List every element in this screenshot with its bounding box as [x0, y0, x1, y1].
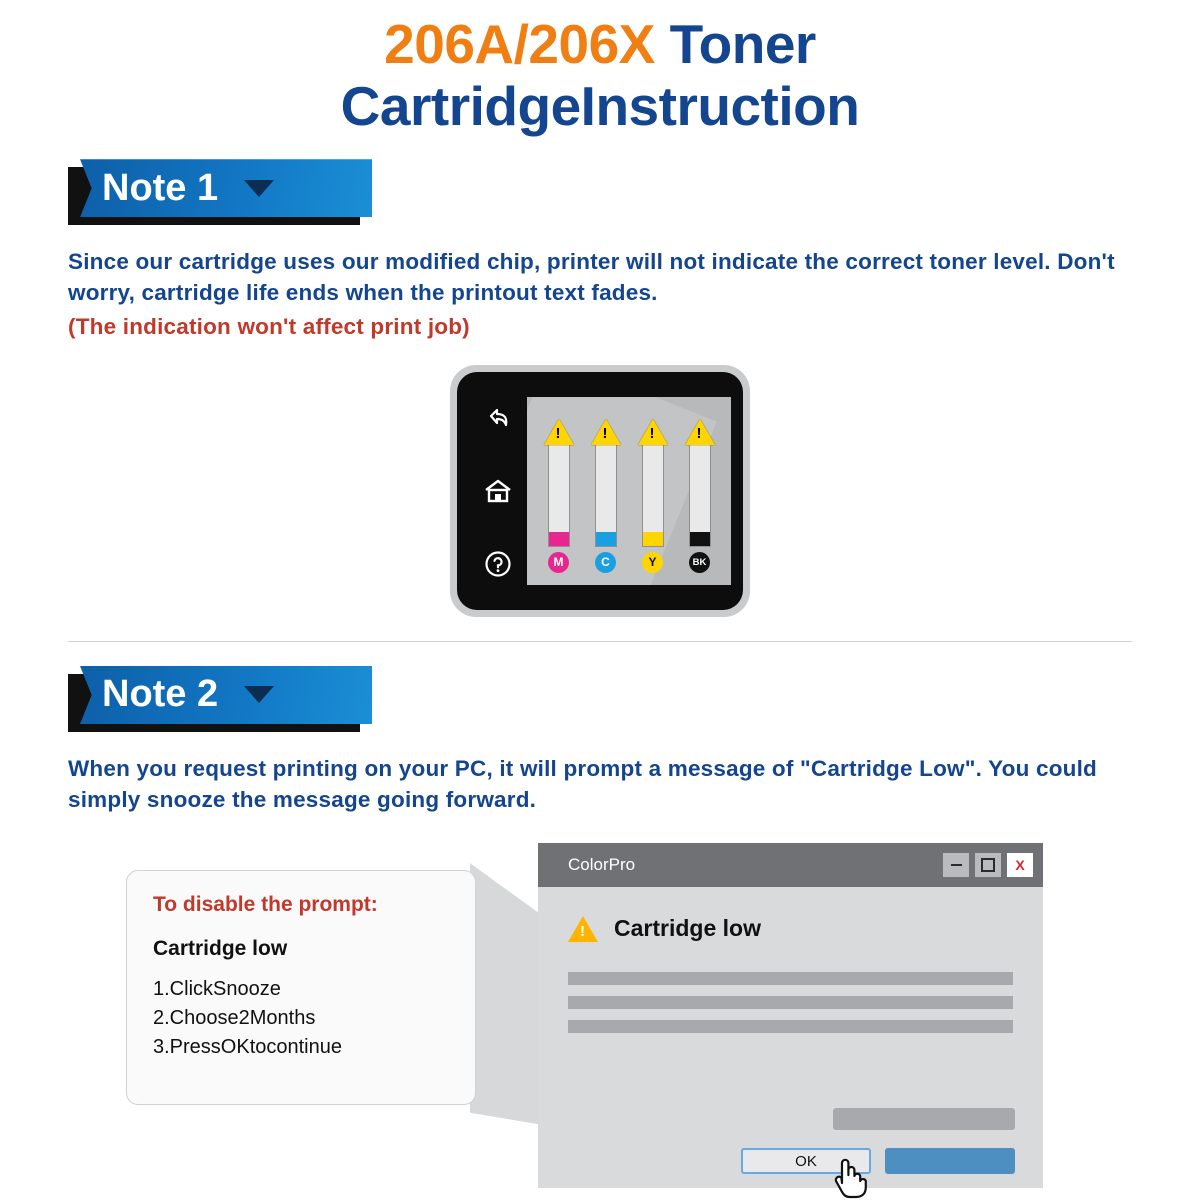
- title-line-2: CartridgeInstruction: [0, 76, 1200, 138]
- toner-chip-label: M: [548, 552, 569, 573]
- dialog-heading-row: Cartridge low: [568, 915, 1013, 942]
- dialog-heading: Cartridge low: [614, 915, 761, 942]
- callout-step: 1.ClickSnooze: [153, 975, 449, 1004]
- maximize-button[interactable]: [975, 853, 1001, 877]
- title-model-number: 206A/206X: [384, 13, 655, 75]
- callout-step: 3.PressOKtocontinue: [153, 1033, 449, 1062]
- toner-bar: [595, 441, 617, 547]
- toner-chip-label: Y: [642, 552, 663, 573]
- callout-title: To disable the prompt:: [153, 893, 449, 917]
- toner-bar-fill: [643, 532, 663, 546]
- printer-panel-bezel: M C Y: [457, 372, 743, 610]
- dialog-button-row: OK: [538, 1148, 1043, 1174]
- chevron-down-icon: [244, 180, 274, 197]
- secondary-button[interactable]: [885, 1148, 1015, 1174]
- note-1-paragraph-red: (The indication won't affect print job): [68, 312, 1168, 343]
- note-1-banner-body: Note 1: [80, 159, 372, 217]
- toner-bar-fill: [549, 532, 569, 546]
- help-icon[interactable]: [483, 549, 513, 579]
- printer-status-screen: M C Y: [527, 397, 731, 585]
- dialog-titlebar: ColorPro X: [538, 843, 1043, 887]
- title-line-1: 206A/206X Toner: [0, 14, 1200, 76]
- dialog-body: Cartridge low: [538, 887, 1043, 1033]
- warning-triangle-icon: [685, 419, 715, 445]
- note-2-label: Note 2: [102, 673, 218, 716]
- toner-bar: [689, 441, 711, 547]
- chevron-down-icon: [244, 686, 274, 703]
- toner-level-magenta: M: [540, 419, 578, 573]
- printer-panel-icon-column: [469, 382, 527, 600]
- close-button[interactable]: X: [1007, 853, 1033, 877]
- dialog-text-placeholder: [568, 996, 1013, 1009]
- dialog-text-placeholder: [568, 1020, 1013, 1033]
- warning-triangle-icon: [568, 916, 598, 942]
- note-2-banner-body: Note 2: [80, 666, 372, 724]
- back-arrow-icon[interactable]: [483, 403, 513, 433]
- note-2-banner: Note 2: [68, 666, 373, 732]
- home-icon[interactable]: [482, 476, 514, 506]
- toner-bar-fill: [690, 532, 710, 546]
- callout-subtitle: Cartridge low: [153, 937, 449, 961]
- toner-bar-fill: [596, 532, 616, 546]
- toner-level-black: BK: [681, 419, 719, 573]
- toner-level-yellow: Y: [634, 419, 672, 573]
- dialog-illustration: To disable the prompt: Cartridge low 1.C…: [0, 843, 1200, 1188]
- disable-prompt-callout: To disable the prompt: Cartridge low 1.C…: [126, 870, 476, 1105]
- title-word-toner: Toner: [670, 13, 816, 75]
- warning-triangle-icon: [544, 419, 574, 445]
- toner-chip-label: C: [595, 552, 616, 573]
- maximize-icon: [981, 858, 995, 872]
- hand-cursor-icon: [828, 1153, 868, 1204]
- note-1-banner: Note 1: [68, 159, 373, 225]
- minimize-icon: [951, 864, 962, 866]
- dialog-text-placeholder: [568, 972, 1013, 985]
- note-1-paragraph: Since our cartridge uses our modified ch…: [68, 247, 1168, 308]
- toner-bar: [642, 441, 664, 547]
- note-1-label: Note 1: [102, 167, 218, 210]
- section-divider: [68, 641, 1132, 642]
- snooze-duration-select[interactable]: [833, 1108, 1015, 1130]
- cartridge-low-dialog: ColorPro X Cartridge low OK: [538, 843, 1043, 1188]
- printer-panel-illustration: M C Y: [0, 365, 1200, 617]
- warning-triangle-icon: [591, 419, 621, 445]
- page-title: 206A/206X Toner CartridgeInstruction: [0, 0, 1200, 137]
- toner-bar: [548, 441, 570, 547]
- callout-step: 2.Choose2Months: [153, 1004, 449, 1033]
- toner-chip-label: BK: [689, 552, 710, 573]
- dialog-title: ColorPro: [568, 855, 937, 875]
- toner-level-cyan: C: [587, 419, 625, 573]
- minimize-button[interactable]: [943, 853, 969, 877]
- note-2-paragraph: When you request printing on your PC, it…: [68, 754, 1168, 815]
- printer-panel-frame: M C Y: [450, 365, 750, 617]
- warning-triangle-icon: [638, 419, 668, 445]
